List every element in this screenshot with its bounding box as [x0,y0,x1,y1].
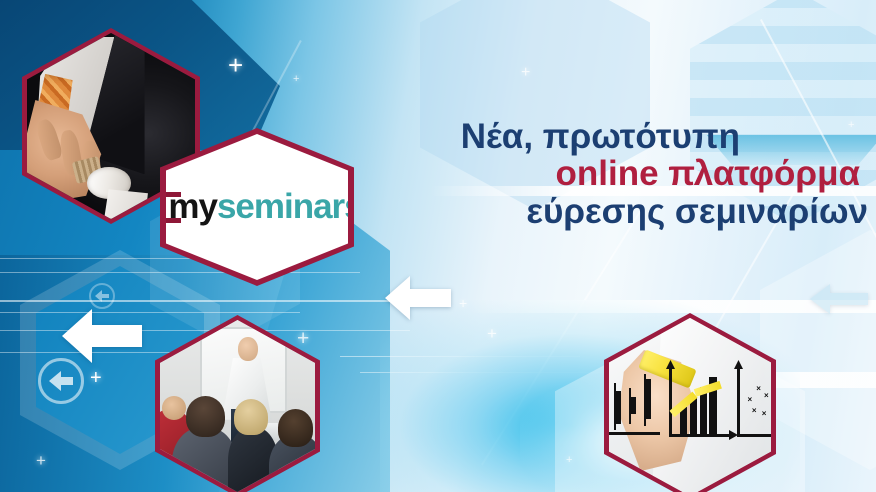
plus-sparkle-icon: + [228,52,243,78]
candlestick-chart-icon [609,371,658,435]
background-line [0,258,200,259]
seminar-classroom-audience-photo [160,320,315,492]
plus-sparkle-icon: + [90,368,102,388]
plus-sparkle-icon: + [521,65,530,81]
scatter-plot-icon: × × × × × × × × [735,366,771,437]
background-line [0,272,360,273]
headline-line-2-platforma: πλατφόρμα [668,154,860,193]
headline-line-2-online: online [556,154,659,193]
headline-line-3: εύρεσης σεμιναρίων [330,193,870,230]
audience-head-shape [278,409,314,447]
promo-banner: + + + + + + + + + + + + [0,0,876,492]
headline-line-1: Νέα, πρωτότυπη [330,118,870,155]
hand-drawing-business-charts-photo: × × × × × × × × [609,318,771,492]
arrow-left-medium-icon [385,275,451,321]
arrow-left-circle-icon-small [89,283,115,309]
background-line [0,300,420,302]
arrow-left-circle-button[interactable] [38,358,84,404]
audience-head-shape [186,396,225,437]
audience-head-shape [234,399,268,435]
bar-chart-growth-icon [667,366,732,437]
background-line [0,312,300,313]
arrow-left-large-icon [62,308,142,364]
plus-sparkle-icon: + [293,74,299,85]
plus-sparkle-icon: + [487,325,497,342]
presenter-head-shape [238,337,258,361]
headline-line-2: online πλατφόρμα [330,155,870,192]
headline: Νέα, πρωτότυπη online πλατφόρμα εύρεσης … [330,118,870,230]
arrow-left-faint-icon [810,282,868,316]
logo-word-my: my [168,187,217,226]
audience-head-shape [162,396,187,420]
plus-sparkle-icon: + [297,328,309,349]
plus-sparkle-icon: + [36,452,46,469]
plus-sparkle-icon: + [566,455,572,466]
plus-sparkle-icon: + [459,296,467,310]
